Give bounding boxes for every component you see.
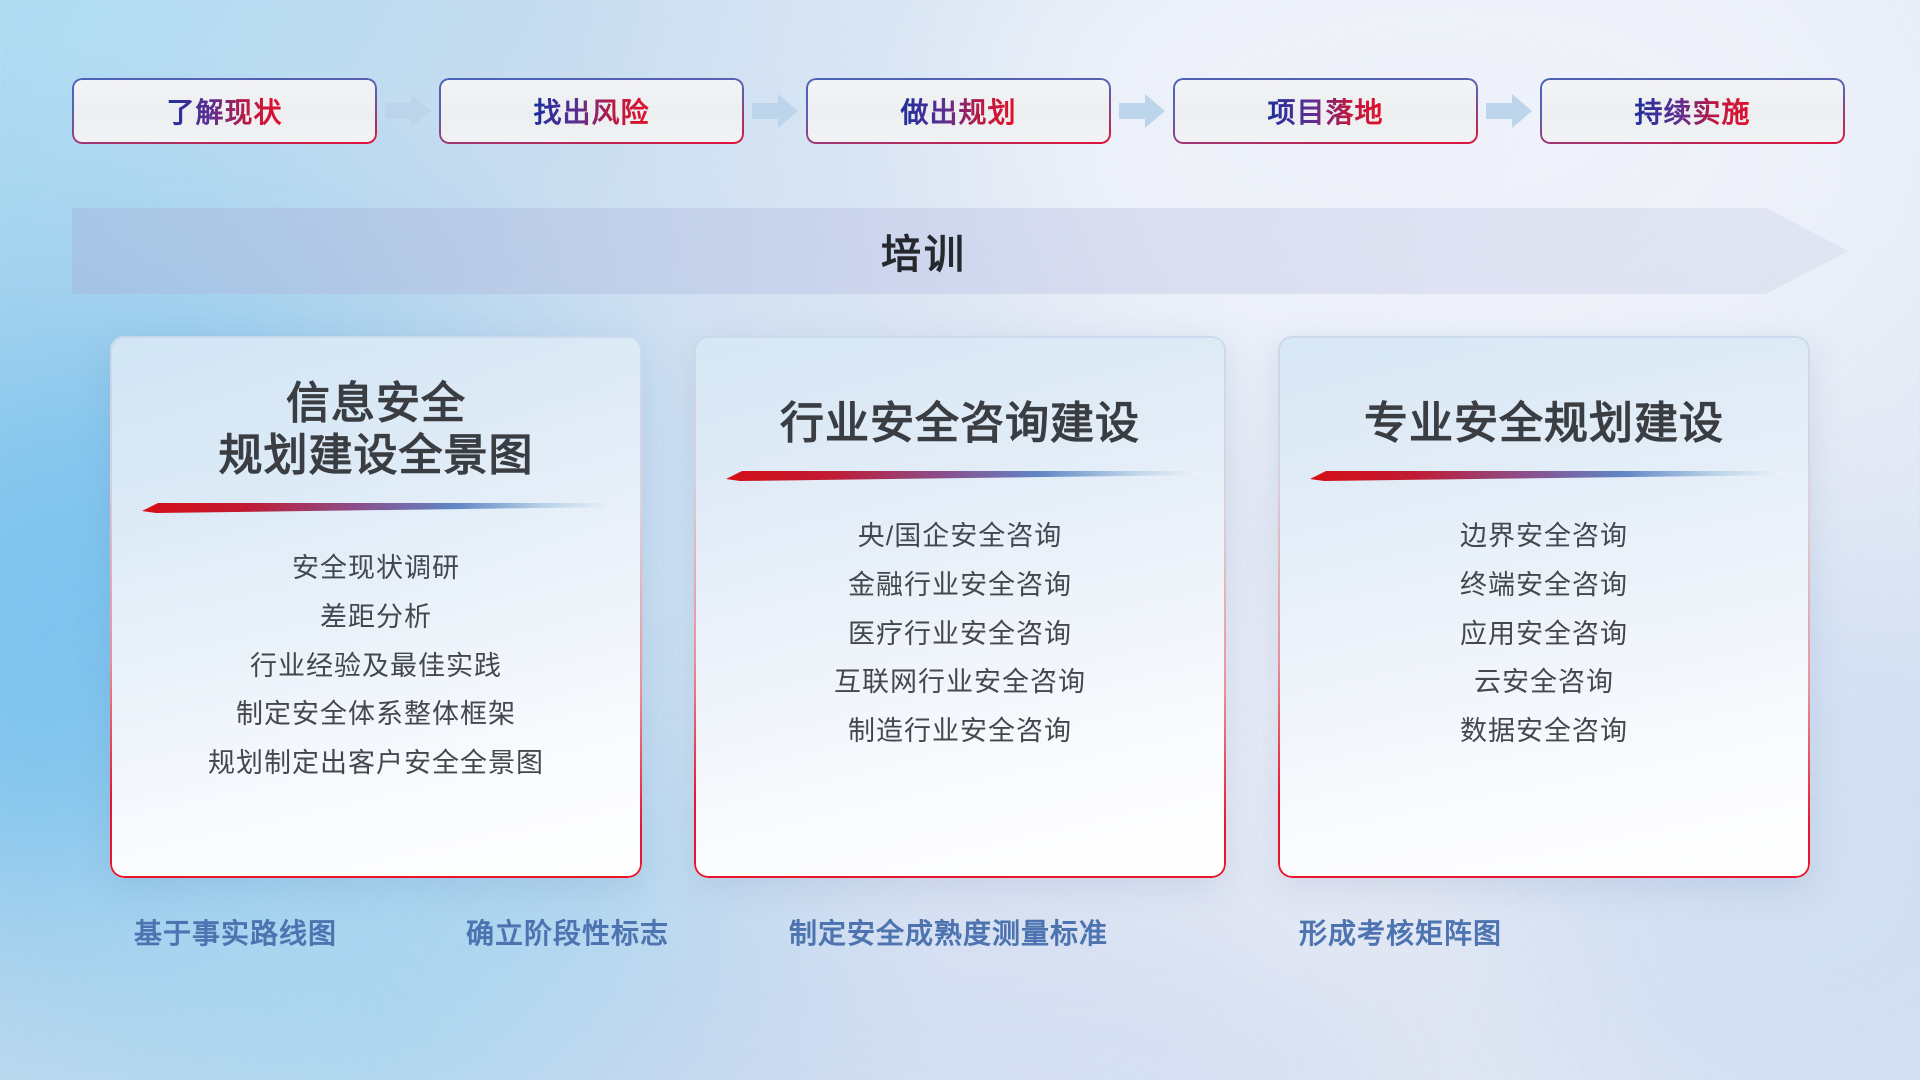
card-2[interactable]: 行业安全咨询建设: [694, 336, 1226, 878]
caption-4: 形成考核矩阵图: [1299, 912, 1502, 952]
arrow-right-icon: [744, 78, 806, 144]
list-item: 金融行业安全咨询: [848, 565, 1072, 607]
process-step-3-label: 做出规划: [900, 91, 1016, 131]
card-1-divider: [136, 502, 616, 514]
card-3-title: 专业安全规划建设: [1364, 398, 1724, 450]
process-step-1-label: 了解现状: [166, 91, 282, 131]
process-step-1[interactable]: 了解现状: [72, 78, 377, 144]
list-item: 医疗行业安全咨询: [848, 614, 1072, 656]
list-item: 行业经验及最佳实践: [250, 646, 502, 688]
list-item: 边界安全咨询: [1460, 516, 1628, 558]
list-item: 云安全咨询: [1474, 662, 1614, 704]
list-item: 应用安全咨询: [1460, 614, 1628, 656]
background-blob-bottom: [520, 880, 1420, 1080]
process-step-5-label: 持续实施: [1634, 91, 1750, 131]
list-item: 制造行业安全咨询: [848, 711, 1072, 753]
list-item: 数据安全咨询: [1460, 711, 1628, 753]
list-item: 规划制定出客户安全全景图: [208, 743, 544, 785]
caption-row: 基于事实路线图 确立阶段性标志 制定安全成熟度测量标准 形成考核矩阵图: [0, 912, 1920, 964]
list-item: 安全现状调研: [292, 548, 460, 590]
list-item: 央/国企安全咨询: [858, 516, 1063, 558]
process-step-3[interactable]: 做出规划: [806, 78, 1111, 144]
caption-2: 确立阶段性标志: [466, 912, 669, 952]
caption-3: 制定安全成熟度测量标准: [789, 912, 1108, 952]
card-1-list: 安全现状调研 差距分析 行业经验及最佳实践 制定安全体系整体框架 规划制定出客户…: [208, 548, 544, 785]
card-2-list: 央/国企安全咨询 金融行业安全咨询 医疗行业安全咨询 互联网行业安全咨询 制造行…: [834, 516, 1086, 753]
card-3[interactable]: 专业安全规划建设: [1278, 336, 1810, 878]
process-step-4-label: 项目落地: [1267, 91, 1383, 131]
banner-title: 培训: [72, 208, 1848, 294]
caption-1: 基于事实路线图: [134, 912, 337, 952]
arrow-right-icon: [1478, 78, 1540, 144]
card-3-divider: [1304, 470, 1784, 482]
arrow-right-icon: [377, 78, 439, 144]
process-step-4[interactable]: 项目落地: [1173, 78, 1478, 144]
process-step-flow: 了解现状 找出风险 做出规划 项目落地 持续实施: [72, 78, 1848, 144]
card-3-list: 边界安全咨询 终端安全咨询 应用安全咨询 云安全咨询 数据安全咨询: [1460, 516, 1628, 753]
list-item: 制定安全体系整体框架: [236, 694, 516, 736]
process-step-2[interactable]: 找出风险: [439, 78, 744, 144]
card-group: 信息安全 规划建设全景图: [110, 336, 1810, 878]
arrow-right-icon: [1111, 78, 1173, 144]
card-1[interactable]: 信息安全 规划建设全景图: [110, 336, 642, 878]
list-item: 终端安全咨询: [1460, 565, 1628, 607]
card-2-divider: [720, 470, 1200, 482]
process-step-5[interactable]: 持续实施: [1540, 78, 1845, 144]
list-item: 互联网行业安全咨询: [834, 662, 1086, 704]
list-item: 差距分析: [320, 597, 432, 639]
card-1-title: 信息安全 规划建设全景图: [219, 378, 534, 482]
training-banner: 培训: [72, 208, 1848, 294]
card-2-title: 行业安全咨询建设: [780, 398, 1140, 450]
process-step-2-label: 找出风险: [533, 91, 649, 131]
